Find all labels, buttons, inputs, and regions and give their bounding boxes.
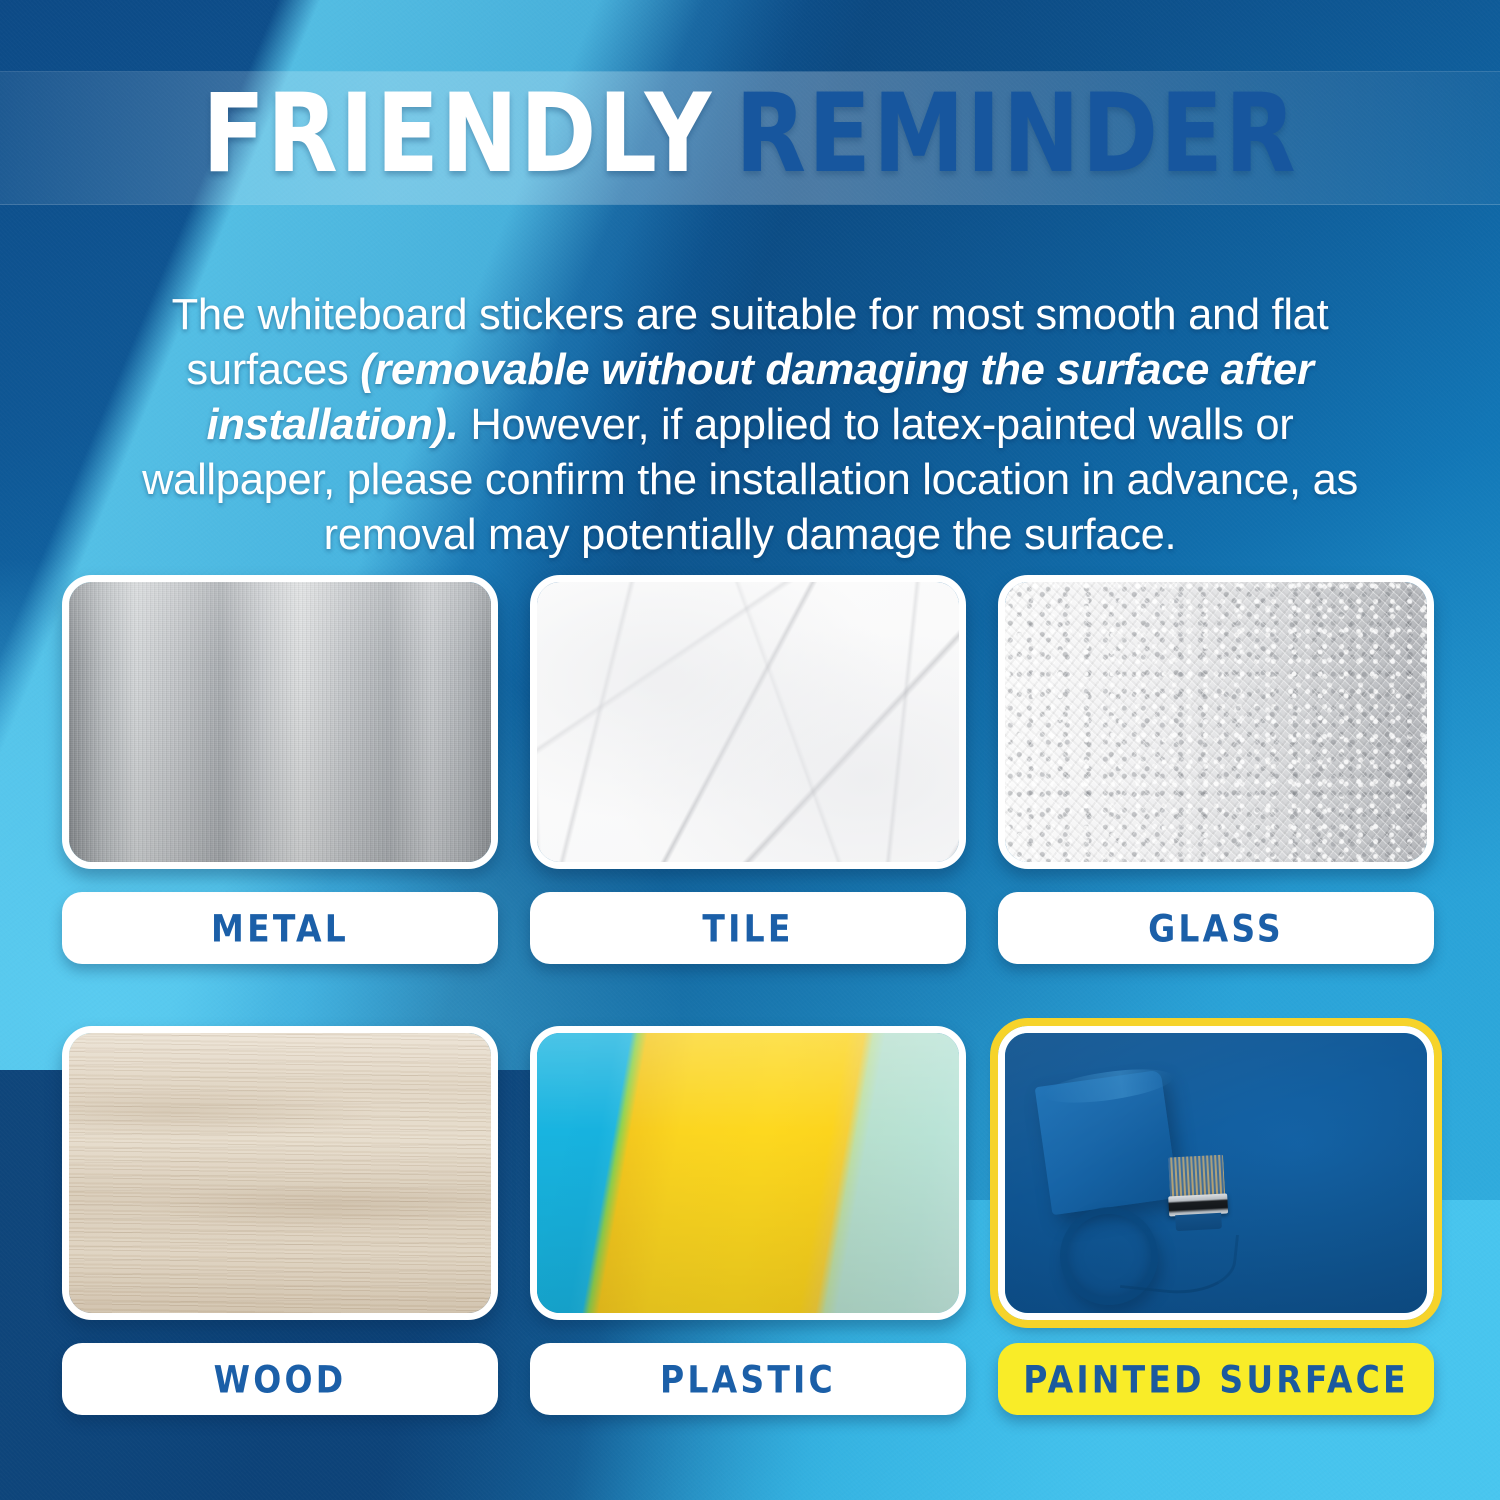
frosted-glass-texture bbox=[1005, 582, 1427, 862]
color-plastic-texture bbox=[537, 1033, 959, 1313]
surface-label-pill-metal: METAL bbox=[62, 892, 498, 964]
surface-grid: METAL TILE GLASS bbox=[62, 575, 1438, 1415]
surface-label-pill-wood: WOOD bbox=[62, 1343, 498, 1415]
surface-label-pill-painted-surface: PAINTED SURFACE bbox=[998, 1343, 1434, 1415]
surface-swatch-wood bbox=[62, 1026, 498, 1320]
title-word-reminder: REMINDER bbox=[735, 71, 1298, 197]
surface-swatch-painted-surface bbox=[998, 1026, 1434, 1320]
surface-label-pill-glass: GLASS bbox=[998, 892, 1434, 964]
pale-oak-wood-texture bbox=[69, 1033, 491, 1313]
surface-label-plastic: PLASTIC bbox=[660, 1357, 836, 1401]
surface-card-plastic: PLASTIC bbox=[530, 1026, 966, 1415]
surface-label-tile: TILE bbox=[702, 906, 793, 950]
surface-swatch-metal bbox=[62, 575, 498, 869]
surface-card-glass: GLASS bbox=[998, 575, 1434, 964]
surface-label-pill-tile: TILE bbox=[530, 892, 966, 964]
surface-label-wood: WOOD bbox=[214, 1357, 347, 1401]
surface-card-wood: WOOD bbox=[62, 1026, 498, 1415]
body-paragraph: The whiteboard stickers are suitable for… bbox=[110, 288, 1390, 563]
page-title: FRIENDLYREMINDER bbox=[0, 78, 1500, 192]
surface-swatch-glass bbox=[998, 575, 1434, 869]
surface-label-painted-surface: PAINTED SURFACE bbox=[1023, 1357, 1409, 1401]
infographic-poster: FRIENDLYREMINDER The whiteboard stickers… bbox=[0, 0, 1500, 1500]
surface-card-metal: METAL bbox=[62, 575, 498, 964]
title-word-friendly: FRIENDLY bbox=[202, 71, 713, 197]
painted-wall-texture bbox=[1005, 1033, 1427, 1313]
surface-label-glass: GLASS bbox=[1148, 906, 1284, 950]
surface-card-painted-surface: PAINTED SURFACE bbox=[998, 1026, 1434, 1415]
brushed-metal-texture bbox=[69, 582, 491, 862]
painted-wall-shading bbox=[1005, 1033, 1427, 1313]
surface-card-tile: TILE bbox=[530, 575, 966, 964]
surface-swatch-plastic bbox=[530, 1026, 966, 1320]
surface-label-pill-plastic: PLASTIC bbox=[530, 1343, 966, 1415]
white-marble-texture bbox=[537, 582, 959, 862]
surface-swatch-tile bbox=[530, 575, 966, 869]
surface-label-metal: METAL bbox=[211, 906, 349, 950]
